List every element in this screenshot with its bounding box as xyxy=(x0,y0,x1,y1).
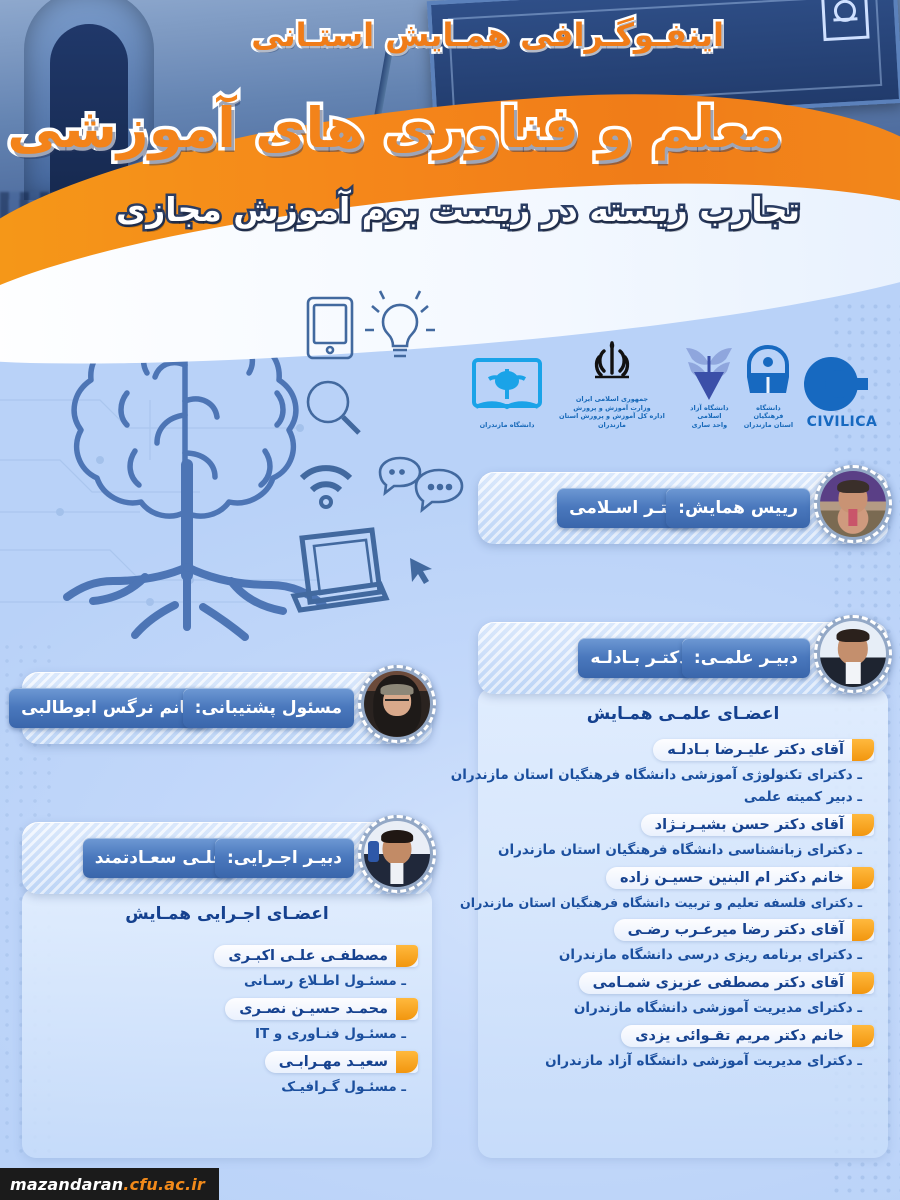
azad-university-logo: دانشگاه آزاد اسلامیواحد ساری xyxy=(678,342,741,430)
card-bar: دبیـر اجـرایی: علـی سعـادتمند xyxy=(22,822,432,894)
mazandaran-university-logo: دانشگاه مازندران xyxy=(468,357,546,430)
card-bar: مسئول پشتیبانی: خانم نرگس ابوطالبی xyxy=(22,672,432,744)
member-name: آقای دکتر حسن بشیـرنـژاد xyxy=(641,814,874,836)
list-item: خانم دکتر ام البنین حسیـن زاده ـ دکترای … xyxy=(492,867,874,910)
laptop-icon xyxy=(294,530,386,610)
panel-scientific-committee: اعضـای علمـی همـایش آقای دکتر علیـرضا بـ… xyxy=(478,688,888,1158)
avatar-dr-badeleh xyxy=(814,615,892,693)
iran-emblem-icon xyxy=(587,337,637,393)
list-item: محمـد حسیـن نصـری ـ مسئـول فنـاوری و IT xyxy=(36,998,418,1042)
card-bar: دبیـر علمـی: دکتـر بـادلـه xyxy=(478,622,888,694)
member-desc: ـ دکترای مدیریت آموزشی دانشگاه آزاد مازن… xyxy=(492,1047,874,1069)
azad-caption: دانشگاه آزاد اسلامیواحد ساری xyxy=(678,404,741,430)
civilica-logo: CIVILICA xyxy=(796,356,888,430)
ministry-caption: جمهوری اسلامی ایرانوزارت آموزش و پرورشاد… xyxy=(546,395,678,430)
avatar-ali-saadatmand xyxy=(358,815,436,893)
mazandaran-caption: دانشگاه مازندران xyxy=(480,421,535,430)
card-support-manager: مسئول پشتیبانی: خانم نرگس ابوطالبی xyxy=(22,672,432,744)
avatar-narges-abutalebi xyxy=(358,665,436,743)
list-item: مصطفـی علـی اکبـری ـ مسئـول اطـلاع رسـان… xyxy=(36,945,418,989)
footer-domain: mazandaran xyxy=(10,1175,123,1194)
azad-mark-icon xyxy=(682,342,736,402)
panel-executive-committee: اعضـای اجـرایی همـایش مصطفـی علـی اکبـری… xyxy=(22,888,432,1158)
avatar-dr-eslami xyxy=(814,465,892,543)
sponsor-logo-row: CIVILICA دانشگاه فرهنگیاناستان مازندران … xyxy=(468,318,888,430)
list-item: سعیـد مهـرابـی ـ مسئـول گـرافیـک xyxy=(36,1051,418,1095)
ministry-of-education-logo: جمهوری اسلامی ایرانوزارت آموزش و پرورشاد… xyxy=(546,337,678,430)
member-name: سعیـد مهـرابـی xyxy=(265,1051,418,1073)
member-name: آقای دکتر علیـرضا بـادلـه xyxy=(653,739,874,761)
executive-secretary-role-label: دبیـر اجـرایی: xyxy=(215,838,354,878)
list-item: آقای دکتر مصطفی عزیزی شمـامی ـ دکترای مد… xyxy=(492,972,874,1016)
farhangian-mark-icon xyxy=(742,344,794,402)
member-desc: ـ دکترای تکنولوژی آموزشی دانشگاه فرهنگیا… xyxy=(492,761,874,783)
executive-secretary-person-name: علـی سعـادتمند xyxy=(83,838,236,878)
civilica-wordmark: CIVILICA xyxy=(807,414,878,430)
chat-bubbles-icon xyxy=(380,458,462,510)
member-name: خانم دکتر مریم تقـوائی یزدی xyxy=(621,1025,874,1047)
list-item: آقای دکتر رضا میرعـرب رضـی ـ دکترای برنا… xyxy=(492,919,874,963)
card-conference-chair: رییس همایش: دکتـر اسـلامی xyxy=(478,472,888,544)
support-manager-person-name: خانم نرگس ابوطالبی xyxy=(9,688,210,728)
cursor-icon xyxy=(410,558,432,584)
member-desc: ـ دکترای فلسفه تعلیم و تربیت دانشگاه فره… xyxy=(492,889,874,910)
header-kicker: اینفـوگـرافی همـایش استـانی xyxy=(251,16,724,54)
scientific-committee-title: اعضـای علمـی همـایش xyxy=(478,688,888,728)
member-name: آقای دکتر مصطفی عزیزی شمـامی xyxy=(579,972,874,994)
header-subtitle: تجارب زیسته در زیست بوم آموزش مجازی xyxy=(116,190,800,229)
footer-tld: .cfu.ac.ir xyxy=(123,1175,205,1194)
scientific-committee-list: آقای دکتر علیـرضا بـادلـه ـ دکترای تکنول… xyxy=(478,728,888,1069)
member-name: آقای دکتر رضا میرعـرب رضـی xyxy=(614,919,874,941)
civilica-mark-icon xyxy=(796,356,888,414)
member-desc: ـ دکترای مدیریت آموزشی دانشگاه مازندران xyxy=(492,994,874,1016)
member-desc: ـ دکترای برنامه ریزی درسی دانشگاه مازندر… xyxy=(492,941,874,963)
card-scientific-secretary: دبیـر علمـی: دکتـر بـادلـه xyxy=(478,622,888,694)
card-bar: رییس همایش: دکتـر اسـلامی xyxy=(478,472,888,544)
list-item: آقای دکتر حسن بشیـرنـژاد ـ دکترای زبانشن… xyxy=(492,814,874,858)
scientific-secretary-role-label: دبیـر علمـی: xyxy=(682,638,810,678)
magnifier-icon xyxy=(308,382,359,433)
farhangian-caption: دانشگاه فرهنگیاناستان مازندران xyxy=(741,404,796,430)
member-desc-2: ـ دبیر کمیته علمی xyxy=(492,783,874,805)
member-name: خانم دکتر ام البنین حسیـن زاده xyxy=(606,867,874,889)
signboard-emblem-icon xyxy=(821,0,870,41)
member-name: مصطفـی علـی اکبـری xyxy=(214,945,418,967)
list-item: خانم دکتر مریم تقـوائی یزدی ـ دکترای مدی… xyxy=(492,1025,874,1069)
page-title: معلم و فناوری های آموزشی xyxy=(7,96,782,160)
member-desc: ـ مسئـول فنـاوری و IT xyxy=(36,1020,418,1042)
tech-icon-cluster xyxy=(280,290,480,620)
executive-committee-title: اعضـای اجـرایی همـایش xyxy=(22,888,432,928)
lightbulb-icon xyxy=(365,291,435,356)
executive-committee-list: مصطفـی علـی اکبـری ـ مسئـول اطـلاع رسـان… xyxy=(22,928,432,1095)
wifi-icon xyxy=(302,468,350,507)
footer-website-url[interactable]: mazandaran.cfu.ac.ir xyxy=(0,1168,219,1200)
poster-root: اینفـوگـرافی همـایش استـانی معلم و فناور… xyxy=(0,0,900,1200)
farhangian-university-logo: دانشگاه فرهنگیاناستان مازندران xyxy=(741,344,796,430)
member-desc: ـ مسئـول گـرافیـک xyxy=(36,1073,418,1095)
member-desc: ـ مسئـول اطـلاع رسـانی xyxy=(36,967,418,989)
support-manager-role-label: مسئول پشتیبانی: xyxy=(183,688,354,728)
tablet-icon xyxy=(308,298,352,358)
member-name: محمـد حسیـن نصـری xyxy=(225,998,418,1020)
card-executive-secretary: دبیـر اجـرایی: علـی سعـادتمند xyxy=(22,822,432,894)
list-item: آقای دکتر علیـرضا بـادلـه ـ دکترای تکنول… xyxy=(492,739,874,805)
chair-role-label: رییس همایش: xyxy=(666,488,810,528)
member-desc: ـ دکترای زبانشناسی دانشگاه فرهنگیان استا… xyxy=(492,836,874,858)
mazandaran-mark-icon xyxy=(468,357,546,419)
